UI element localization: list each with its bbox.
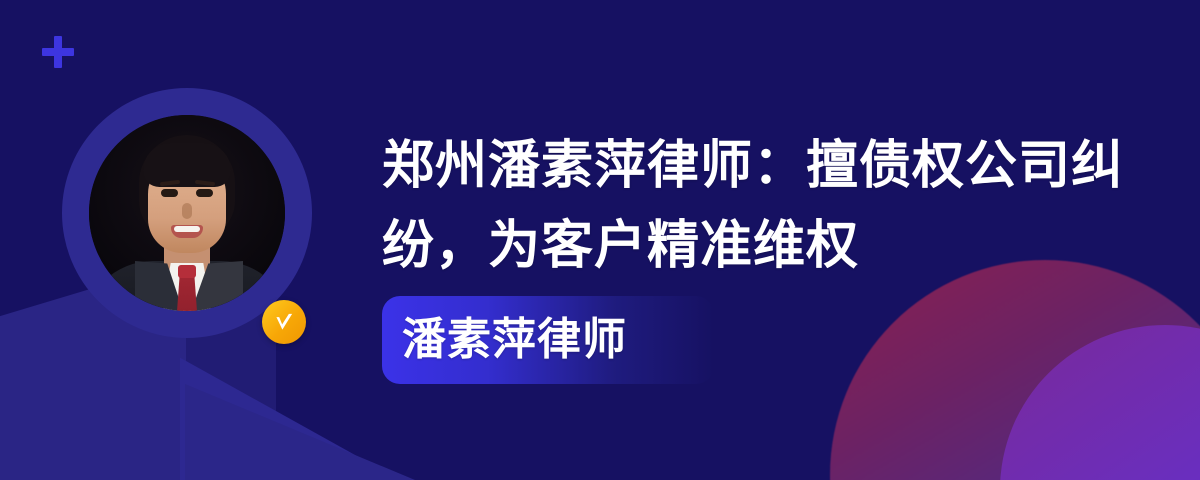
avatar[interactable] (62, 88, 312, 338)
page-title: 郑州潘素萍律师：擅债权公司纠纷，为客户精准维权 (382, 126, 1182, 286)
plus-icon (42, 36, 74, 68)
avatar-photo (89, 115, 285, 311)
verified-badge-icon (262, 300, 306, 344)
lawyer-name: 潘素萍律师 (402, 312, 627, 368)
profile-banner: 潘素萍律师 郑州潘素萍律师：擅债权公司纠纷，为客户精准维权 (0, 0, 1200, 480)
